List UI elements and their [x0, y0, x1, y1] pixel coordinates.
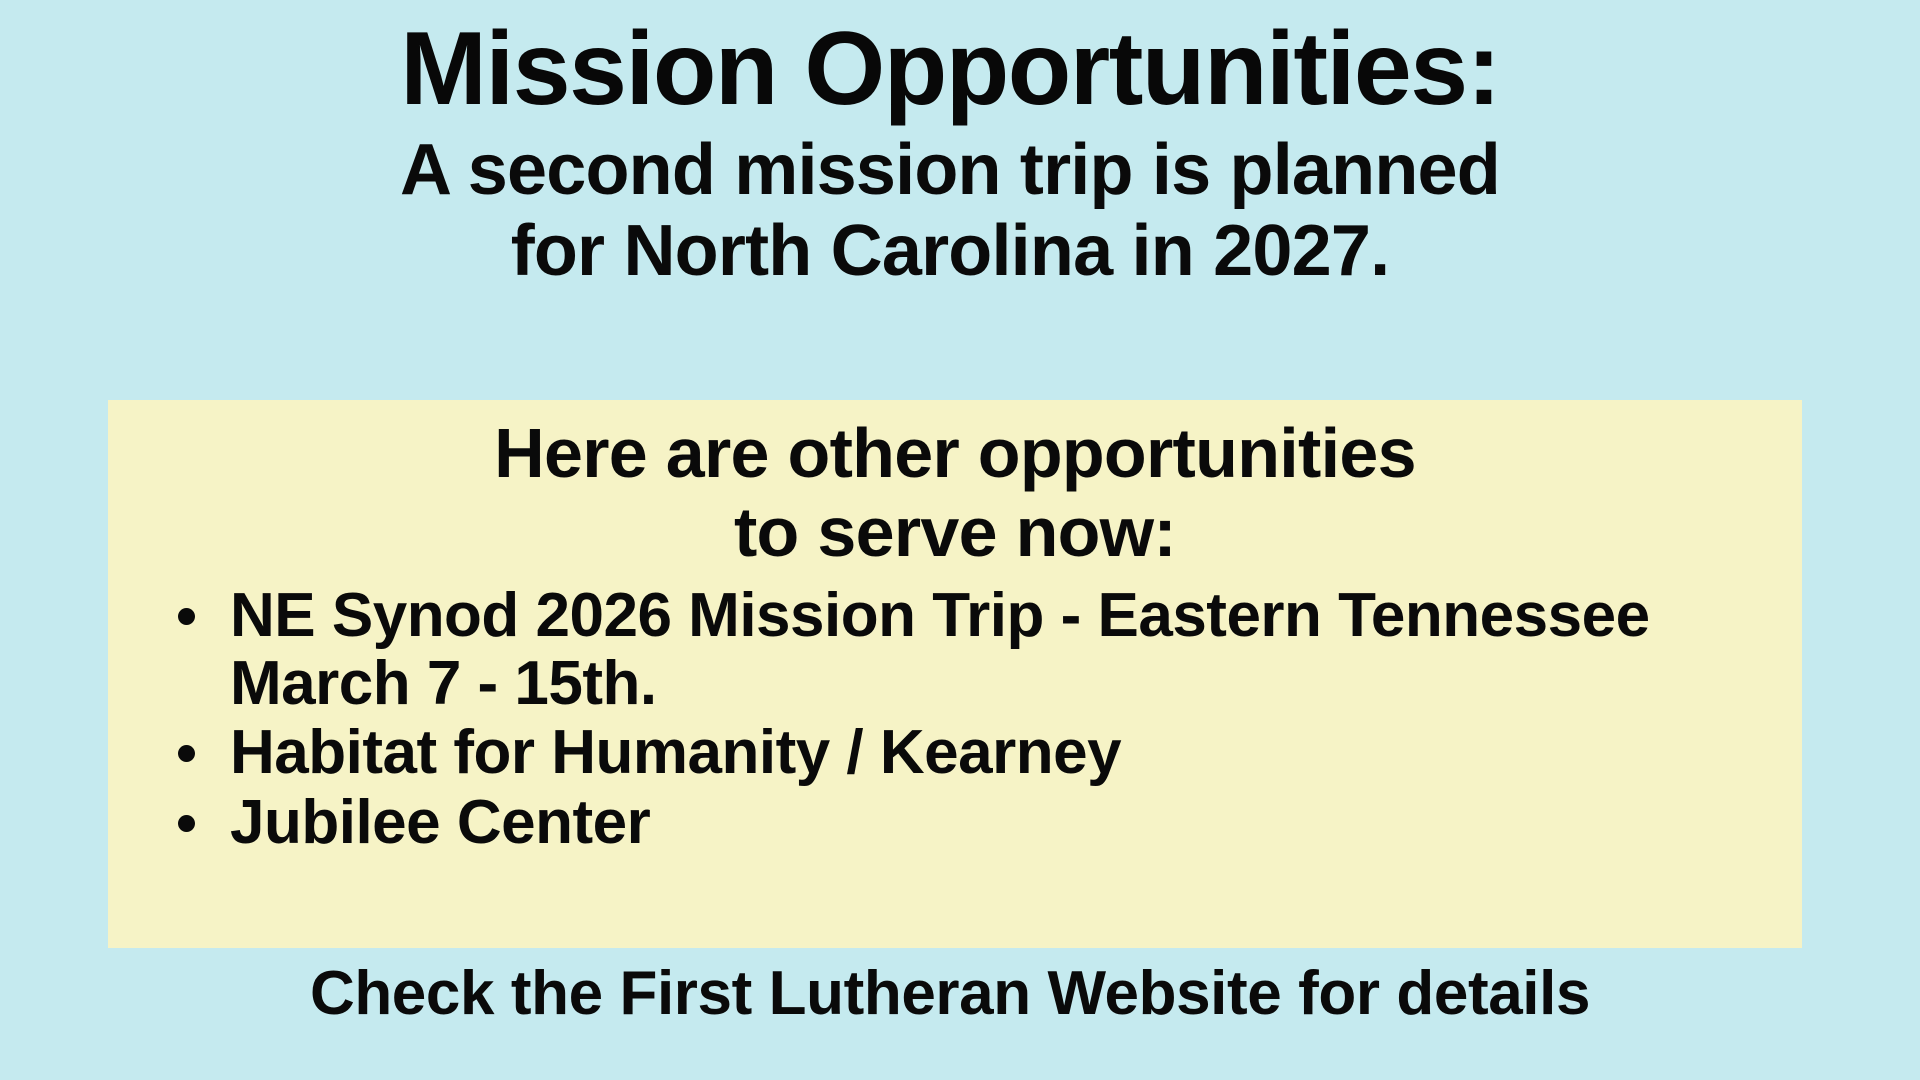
- list-item-label: Jubilee Center: [230, 788, 650, 857]
- bullet-dot-icon: [178, 608, 195, 625]
- subtitle: A second mission trip is planned for Nor…: [0, 130, 1900, 291]
- slide-canvas: Mission Opportunities: A second mission …: [0, 0, 1920, 1080]
- list-item-label: Habitat for Humanity / Kearney: [230, 718, 1121, 787]
- list-item: Jubilee Center: [170, 789, 1660, 857]
- list-item: Habitat for Humanity / Kearney: [170, 719, 1660, 787]
- bullet-dot-icon: [178, 815, 195, 832]
- panel-heading-line-2: to serve now:: [108, 493, 1802, 572]
- title-block: Mission Opportunities: A second mission …: [0, 14, 1900, 291]
- bullet-dot-icon: [178, 745, 195, 762]
- panel-heading: Here are other opportunities to serve no…: [108, 400, 1802, 572]
- opportunities-list: NE Synod 2026 Mission Trip - Eastern Ten…: [108, 582, 1802, 856]
- opportunities-panel: Here are other opportunities to serve no…: [108, 400, 1802, 948]
- subtitle-line-1: A second mission trip is planned: [0, 130, 1900, 211]
- subtitle-line-2: for North Carolina in 2027.: [0, 211, 1900, 292]
- footer-note: Check the First Lutheran Website for det…: [0, 958, 1900, 1029]
- panel-heading-line-1: Here are other opportunities: [108, 414, 1802, 493]
- list-item: NE Synod 2026 Mission Trip - Eastern Ten…: [170, 582, 1660, 717]
- list-item-label: NE Synod 2026 Mission Trip - Eastern Ten…: [230, 581, 1650, 718]
- page-title: Mission Opportunities:: [0, 14, 1900, 124]
